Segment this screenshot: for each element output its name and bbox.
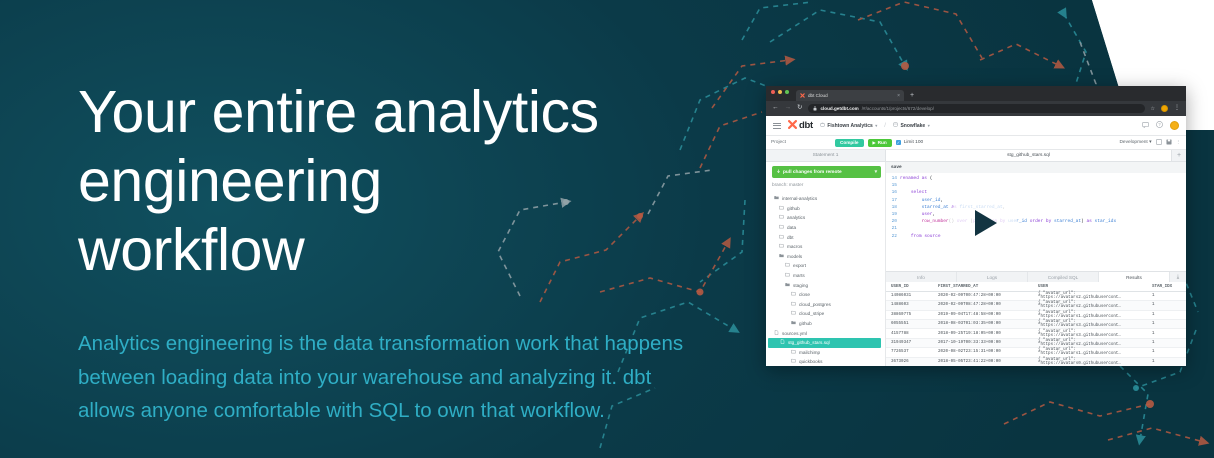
results-grid: USER_IDFIRST_STARRED_ATUSERSTAR_IDX14086…: [886, 282, 1186, 366]
results-cell: 1: [1152, 313, 1186, 317]
file-tree-item[interactable]: close: [772, 290, 881, 300]
dbt-logo[interactable]: dbt: [788, 120, 813, 131]
bookmark-star-icon[interactable]: ☆: [1151, 106, 1155, 112]
more-options-icon[interactable]: ⋮: [1176, 140, 1182, 146]
results-column-header: STAR_IDX: [1152, 285, 1186, 289]
hero-banner: Your entire analytics engineering workfl…: [0, 0, 1214, 458]
file-tree-item[interactable]: macros: [772, 242, 881, 252]
results-tab-logs[interactable]: Logs: [957, 272, 1028, 282]
save-row: save: [886, 162, 1186, 173]
file-explorer-sidebar: pull changes from remote ▾ branch: maste…: [766, 162, 886, 366]
file-tree-item[interactable]: github: [772, 319, 881, 329]
limit-checkbox-icon[interactable]: ✓: [896, 140, 902, 146]
breadcrumb-warehouse[interactable]: Snowflake ▾: [893, 122, 930, 129]
window-controls[interactable]: [771, 86, 789, 101]
address-bar[interactable]: cloud.getdbt.com/#/accounts/1/projects/6…: [808, 104, 1144, 114]
browser-tab[interactable]: dbt Cloud ×: [796, 90, 904, 101]
code-line: [900, 182, 1186, 189]
file-tree-item-label: internal-analytics: [782, 196, 817, 201]
results-column-header: USER: [1038, 285, 1152, 289]
results-cell: 1: [1152, 294, 1186, 298]
results-cell: 31949347: [886, 341, 938, 345]
chevron-down-icon-2: ▾: [928, 123, 930, 128]
folder-icon: [779, 243, 784, 250]
results-cell: { "avatar_url": "https://avatars2.github…: [1038, 292, 1152, 300]
environment-selector[interactable]: Development ▾: [1119, 140, 1151, 145]
browser-profile-avatar[interactable]: [1161, 105, 1168, 112]
editor-tab-file[interactable]: stg_github_stars.sql: [886, 150, 1172, 161]
code-line: starred_at as first_starred_at,: [900, 204, 1186, 211]
pull-changes-button[interactable]: pull changes from remote ▾: [772, 166, 881, 178]
results-cell: 1: [1152, 350, 1186, 354]
database-icon: [893, 122, 898, 129]
close-tab-icon[interactable]: ×: [897, 93, 900, 99]
results-row[interactable]: 77265372020-08-02T23:15:31+00:00{ "avata…: [886, 348, 1186, 357]
folder-icon: [779, 234, 784, 241]
code-line: from source: [900, 233, 1186, 240]
file-tree-item-label: marts: [793, 273, 805, 278]
results-cell: 14086031: [886, 294, 938, 298]
results-cell: 2020-02-09T08:47:28+00:00: [938, 303, 1038, 307]
results-row[interactable]: 388607752019-09-04T17:48:58+00:00{ "avat…: [886, 311, 1186, 320]
dbt-favicon-icon: [800, 93, 805, 98]
results-cell: { "avatar_url": "https://avatars1.github…: [1038, 311, 1152, 319]
line-number: 22: [886, 233, 897, 240]
results-cell: 2017-10-19T00:33:33+00:00: [938, 341, 1038, 345]
results-cell: { "avatar_url": "https://avatars0.github…: [1038, 358, 1152, 366]
compile-button[interactable]: Compile: [835, 139, 864, 147]
results-cell: 2020-02-09T00:47:28+00:00: [938, 294, 1038, 298]
save-button[interactable]: save: [891, 165, 902, 170]
hamburger-icon[interactable]: [773, 123, 781, 129]
hero-subcopy: Analytics engineering is the data transf…: [78, 327, 693, 428]
line-number: 14: [886, 175, 897, 182]
folder-icon: [779, 224, 784, 231]
folder-icon: [791, 358, 796, 365]
editor-tab-bar: Statement 1 stg_github_stars.sql +: [766, 150, 1186, 162]
url-path: /#/accounts/1/projects/672/develop/: [862, 106, 934, 111]
results-cell: 3673026: [886, 360, 938, 364]
back-icon[interactable]: ←: [772, 105, 779, 112]
results-row[interactable]: 41577882018-09-25T19:18:05+00:00{ "avata…: [886, 329, 1186, 338]
reload-icon[interactable]: ↻: [797, 105, 802, 112]
code-area[interactable]: 141516171819202122 renamed as ( select u…: [886, 173, 1186, 271]
forward-icon[interactable]: →: [785, 105, 792, 112]
code-line: [900, 225, 1186, 232]
file-tree-item-label: github: [787, 206, 800, 211]
branch-label: branch: master: [772, 182, 881, 187]
toolbar-right-group: Development ▾ ⋮: [1119, 139, 1181, 147]
file-tree-item-label: staging: [793, 283, 808, 288]
file-tree-item-label: stg_github_stars.sql: [788, 340, 830, 345]
play-video-button[interactable]: [949, 189, 1017, 257]
results-column-header: FIRST_STARRED_AT: [938, 285, 1038, 289]
file-tree-item-label: export: [793, 263, 806, 268]
help-icon[interactable]: ?: [1156, 121, 1163, 130]
results-row[interactable]: 140860312020-02-09T00:47:28+00:00{ "avat…: [886, 292, 1186, 301]
results-cell: 7726537: [886, 350, 938, 354]
folder-icon: [785, 262, 790, 269]
breadcrumb-separator: /: [884, 123, 886, 129]
code-text[interactable]: renamed as ( select user_id, starred_at …: [900, 175, 1186, 271]
editor-tab-statement[interactable]: Statement 1: [766, 150, 886, 161]
results-cell: 4157788: [886, 332, 938, 336]
results-cell: 2018-09-25T19:18:05+00:00: [938, 332, 1038, 336]
results-cell: 2018-08-03T01:03:35+00:00: [938, 322, 1038, 326]
results-cell: 2020-08-02T23:15:31+00:00: [938, 350, 1038, 354]
line-number: 20: [886, 218, 897, 225]
url-domain: cloud.getdbt.com: [820, 106, 858, 111]
file-icon: [774, 330, 779, 337]
results-row[interactable]: 36730262018-05-05T23:41:22+00:00{ "avata…: [886, 358, 1186, 366]
file-tree-item-label: sources.yml: [782, 331, 807, 336]
chat-icon[interactable]: [1142, 122, 1149, 130]
results-tab-compiled-sql[interactable]: Compiled SQL: [1028, 272, 1099, 282]
code-line: select: [900, 189, 1186, 196]
page-title: Your entire analytics engineering workfl…: [78, 78, 718, 285]
results-row[interactable]: 319493472017-10-19T00:33:33+00:00{ "avat…: [886, 339, 1186, 348]
code-line: user_id,: [900, 197, 1186, 204]
browser-menu-icon[interactable]: ⋮: [1174, 107, 1180, 111]
results-cell: 6055551: [886, 322, 938, 326]
browser-tab-strip: dbt Cloud × +: [766, 86, 1186, 101]
folder-icon: [791, 291, 796, 298]
new-tab-icon[interactable]: +: [910, 92, 914, 101]
line-number: 17: [886, 197, 897, 204]
folder-open-icon: [779, 253, 784, 260]
results-cell: 1: [1152, 303, 1186, 307]
results-cell: 1: [1152, 332, 1186, 336]
svg-text:?: ?: [1158, 122, 1161, 127]
pull-changes-label: pull changes from remote: [783, 170, 842, 175]
file-tree-item[interactable]: data: [772, 223, 881, 233]
results-cell: { "avatar_url": "https://avatars2.github…: [1038, 301, 1152, 309]
line-number: 21: [886, 225, 897, 232]
file-tree-item-label: close: [799, 292, 810, 297]
breadcrumb-account[interactable]: Fishtown Analytics ▾: [820, 122, 877, 129]
results-tab-bar: Info Logs Compiled SQL Results ⤓: [886, 271, 1186, 282]
results-cell: { "avatar_url": "https://avatars3.github…: [1038, 320, 1152, 328]
file-tree-item[interactable]: internal-analytics: [772, 194, 881, 204]
results-cell: 1: [1152, 341, 1186, 345]
app-header-actions: ?: [1142, 121, 1179, 130]
environment-label: Development: [1119, 140, 1147, 145]
file-tree-item-label: data: [787, 225, 796, 230]
file-tree-item[interactable]: cloud_stripe: [772, 309, 881, 319]
folder-open-icon: [774, 195, 779, 202]
results-row[interactable]: 60555512018-08-03T01:03:35+00:00{ "avata…: [886, 320, 1186, 329]
download-results-icon[interactable]: ⤓: [1170, 272, 1186, 282]
file-tree-item-label: dbt: [787, 235, 794, 240]
file-tree-item[interactable]: cloud_postgres: [772, 300, 881, 310]
file-tree-item[interactable]: analytics: [772, 213, 881, 223]
results-tab-info[interactable]: Info: [886, 272, 957, 282]
maximize-window-dot[interactable]: [785, 90, 789, 94]
browser-url-bar: ← → ↻ cloud.getdbt.com/#/accounts/1/proj…: [766, 101, 1186, 116]
briefcase-icon: [820, 122, 825, 129]
lock-icon: [813, 106, 817, 112]
folder-icon: [791, 349, 796, 356]
file-tree-item-label: analytics: [787, 215, 805, 220]
results-row[interactable]: 14886032020-02-09T08:47:28+00:00{ "avata…: [886, 301, 1186, 310]
file-tree-item[interactable]: export: [772, 261, 881, 271]
play-triangle-icon: [975, 210, 997, 236]
results-cell: 1: [1152, 360, 1186, 364]
file-tree-item-label: macros: [787, 244, 802, 249]
code-line: row_number() over (partition by user_id …: [900, 218, 1186, 225]
code-line: renamed as (: [900, 175, 1186, 182]
run-button-label: Run: [878, 140, 887, 145]
results-cell: 2018-05-05T23:41:22+00:00: [938, 360, 1038, 364]
hero-copy: Your entire analytics engineering workfl…: [78, 78, 718, 428]
line-number: 15: [886, 182, 897, 189]
file-tree-item-selected[interactable]: stg_github_stars.sql: [768, 338, 881, 348]
folder-icon: [779, 205, 784, 212]
run-button[interactable]: ▶ Run: [868, 139, 892, 147]
folder-icon: [791, 301, 796, 308]
pull-icon: [776, 169, 783, 176]
breadcrumb-warehouse-label: Snowflake: [900, 123, 925, 129]
results-cell: 2019-09-04T17:48:58+00:00: [938, 313, 1038, 317]
close-window-dot[interactable]: [771, 90, 775, 94]
line-number: 19: [886, 211, 897, 218]
file-tree-item[interactable]: quickbooks: [772, 357, 881, 366]
file-tree-item[interactable]: models: [772, 252, 881, 262]
file-tree-item[interactable]: marts: [772, 271, 881, 281]
editor-toolbar: Project Compile ▶ Run ✓ Limit 100 Develo…: [766, 136, 1186, 150]
add-editor-tab-icon[interactable]: +: [1172, 150, 1186, 161]
dbt-app-header: dbt Fishtown Analytics ▾ / Snowflake ▾: [766, 116, 1186, 136]
line-number: 16: [886, 189, 897, 196]
folder-icon: [785, 272, 790, 279]
file-tree-item-label: quickbooks: [799, 359, 822, 364]
file-tree-item-label: cloud_stripe: [799, 311, 824, 316]
line-number-gutter: 141516171819202122: [886, 175, 900, 271]
file-tree-item-label: mailchimp: [799, 350, 820, 355]
minimize-window-dot[interactable]: [778, 90, 782, 94]
file-icon: [780, 339, 785, 346]
results-cell: 38860775: [886, 313, 938, 317]
file-tree-item[interactable]: dbt: [772, 232, 881, 242]
pull-caret-icon[interactable]: ▾: [875, 170, 877, 175]
save-file-icon[interactable]: [1166, 139, 1172, 147]
results-cell: { "avatar_url": "https://avatars3.github…: [1038, 330, 1152, 338]
file-tree-item[interactable]: github: [772, 204, 881, 214]
folder-icon: [791, 310, 796, 317]
user-avatar[interactable]: [1170, 121, 1179, 130]
limit-label: Limit 100: [904, 140, 923, 145]
file-tree-item[interactable]: sources.yml: [772, 328, 881, 338]
breadcrumb-account-label: Fishtown Analytics: [827, 123, 872, 129]
file-tree-item[interactable]: staging: [772, 280, 881, 290]
line-number: 18: [886, 204, 897, 211]
code-editor-pane: save 141516171819202122 renamed as ( sel…: [886, 162, 1186, 366]
results-cell: 1488603: [886, 303, 938, 307]
results-cell: { "avatar_url": "https://avatars2.github…: [1038, 339, 1152, 347]
folder-icon: [779, 214, 784, 221]
results-cell: { "avatar_url": "https://avatars1.github…: [1038, 348, 1152, 356]
file-tree-item[interactable]: mailchimp: [772, 348, 881, 358]
panel-layout-icon[interactable]: [1156, 139, 1162, 147]
results-column-header: USER_ID: [886, 285, 938, 289]
results-cell: 1: [1152, 322, 1186, 326]
file-tree-item-label: cloud_postgres: [799, 302, 831, 307]
folder-open-icon: [791, 320, 796, 327]
dbt-mark-icon: [788, 120, 797, 131]
play-icon: ▶: [873, 140, 876, 145]
project-label: Project: [771, 140, 831, 145]
environment-caret-icon: ▾: [1149, 140, 1151, 145]
folder-open-icon: [785, 282, 790, 289]
browser-tab-title: dbt Cloud: [808, 93, 894, 98]
file-tree-item-label: github: [799, 321, 812, 326]
code-line: user,: [900, 211, 1186, 218]
dbt-wordmark: dbt: [799, 120, 813, 131]
results-header-row: USER_IDFIRST_STARRED_ATUSERSTAR_IDX: [886, 282, 1186, 291]
file-tree-item-label: models: [787, 254, 802, 259]
limit-toggle[interactable]: ✓ Limit 100: [896, 140, 923, 146]
chevron-down-icon: ▾: [875, 123, 877, 128]
file-tree: internal-analyticsgithubanalyticsdatadbt…: [772, 194, 881, 366]
results-tab-results[interactable]: Results: [1099, 272, 1170, 282]
